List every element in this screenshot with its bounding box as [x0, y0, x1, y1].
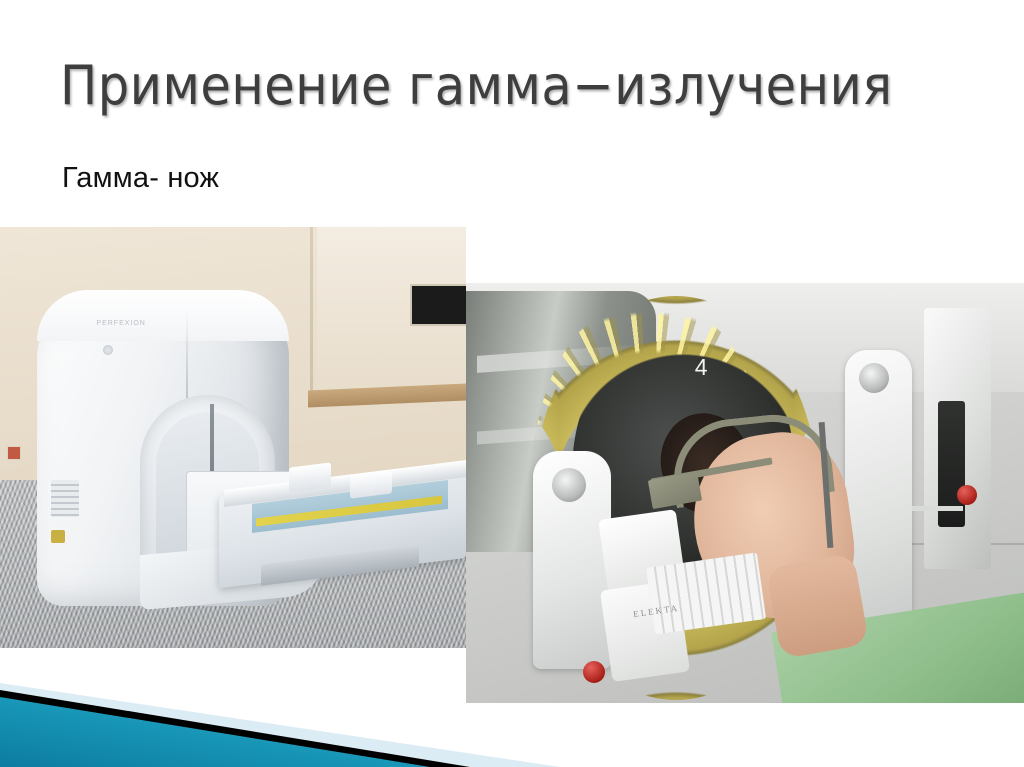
gamma-knife-machine-photo: PERFEXION [0, 227, 466, 648]
adjustment-knob-red-right [957, 485, 977, 505]
room-background: PERFEXION [0, 227, 466, 648]
machine-foot-marker [51, 530, 65, 543]
slide-subtitle: Гамма- нож [62, 160, 219, 196]
adjustment-knob-red-left [583, 661, 605, 683]
adjustment-knob-stem [912, 506, 962, 511]
pivot-joint-right [859, 363, 889, 393]
machine-badge-icon [103, 345, 113, 355]
wall-switch [7, 446, 21, 460]
presentation-slide: Применение гамма−излучения Гамма- нож PE… [0, 0, 1024, 767]
treatment-room-background: 4 ELEKTA [466, 283, 1024, 703]
patient-in-stereotactic-frame-photo: 4 ELEKTA [466, 283, 1024, 703]
ventilation-grille [51, 480, 79, 518]
couch-headrest-left [289, 462, 331, 492]
machine-label: PERFEXION [75, 320, 168, 336]
teal-wedge-texture [0, 697, 430, 767]
wall-mounted-monitor [410, 284, 466, 326]
patient-neck [766, 553, 870, 659]
collimator-number-label: 4 [695, 354, 708, 381]
teal-wedge [0, 697, 430, 767]
page-title: Применение гамма−излучения [60, 55, 1009, 117]
black-stripe [0, 690, 470, 767]
wall-corner-edge [310, 227, 313, 395]
